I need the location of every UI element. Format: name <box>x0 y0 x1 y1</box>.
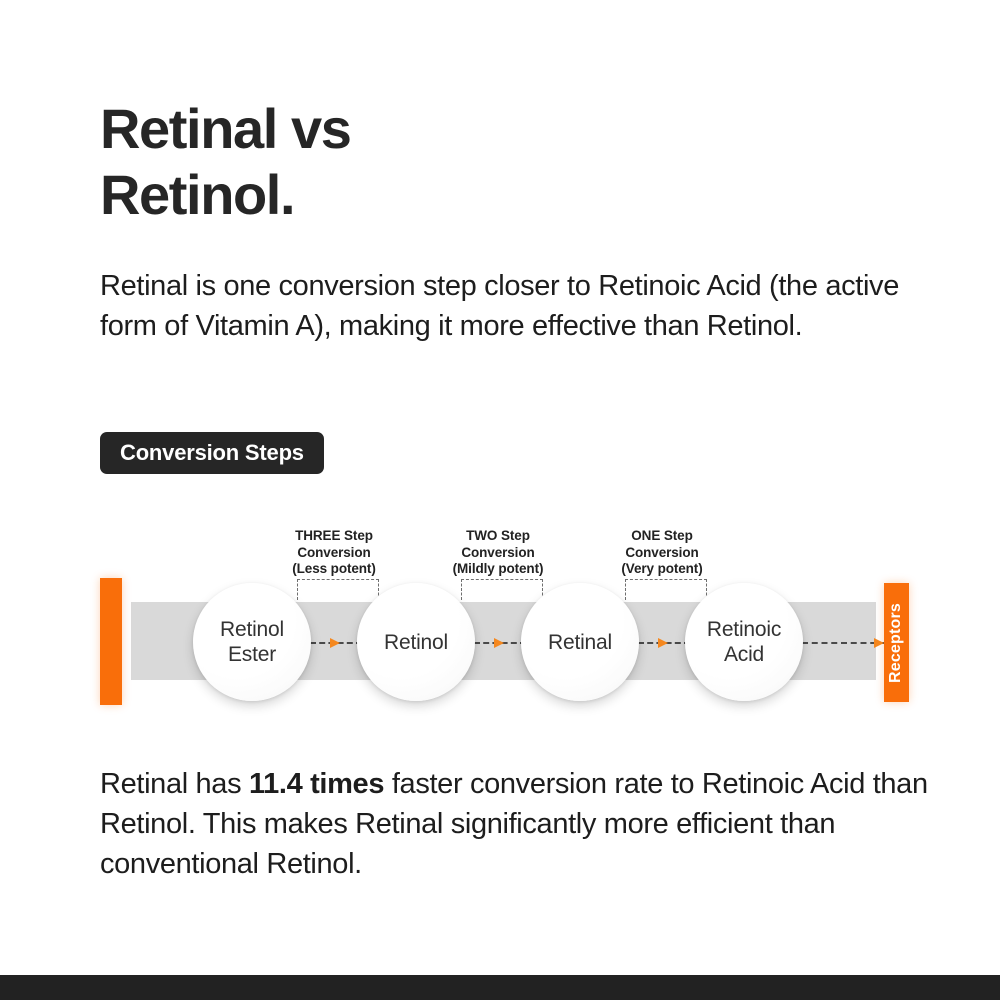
connector-3 <box>638 638 690 648</box>
step-note-three: THREE Step Conversion (Less potent) <box>244 528 424 578</box>
outro-before: Retinal has <box>100 768 249 800</box>
bracket-one-step <box>625 579 707 600</box>
connector-2 <box>474 638 526 648</box>
infographic-page: Retinal vs Retinol. Retinal is one conve… <box>0 0 1000 1000</box>
page-title: Retinal vs Retinol. <box>100 96 720 228</box>
bracket-two-step <box>461 579 543 600</box>
source-bar <box>100 578 122 705</box>
intro-paragraph: Retinal is one conversion step closer to… <box>100 266 910 346</box>
receptors-bar: Receptors <box>884 583 909 702</box>
node-retinoic-acid: Retinoic Acid <box>685 583 803 701</box>
conversion-steps-badge: Conversion Steps <box>100 432 324 474</box>
node-retinal: Retinal <box>521 583 639 701</box>
receptors-bar-label: Receptors <box>888 602 906 682</box>
connector-4 <box>802 638 886 648</box>
arrow-head-icon <box>658 638 668 648</box>
outro-highlight: 11.4 times <box>249 768 384 800</box>
connector-1 <box>310 638 362 648</box>
conversion-steps-diagram: THREE Step Conversion (Less potent) TWO … <box>0 510 1000 720</box>
step-note-one: ONE Step Conversion (Very potent) <box>572 528 752 578</box>
node-retinol: Retinol <box>357 583 475 701</box>
node-retinol-ester: Retinol Ester <box>193 583 311 701</box>
footer-bar <box>0 975 1000 1000</box>
arrow-head-icon <box>494 638 504 648</box>
step-note-two: TWO Step Conversion (Mildly potent) <box>408 528 588 578</box>
conversion-steps-badge-label: Conversion Steps <box>120 440 304 466</box>
bracket-three-step <box>297 579 379 600</box>
arrow-head-icon <box>874 638 884 648</box>
arrow-head-icon <box>330 638 340 648</box>
outro-paragraph: Retinal has 11.4 times faster conversion… <box>100 764 930 884</box>
